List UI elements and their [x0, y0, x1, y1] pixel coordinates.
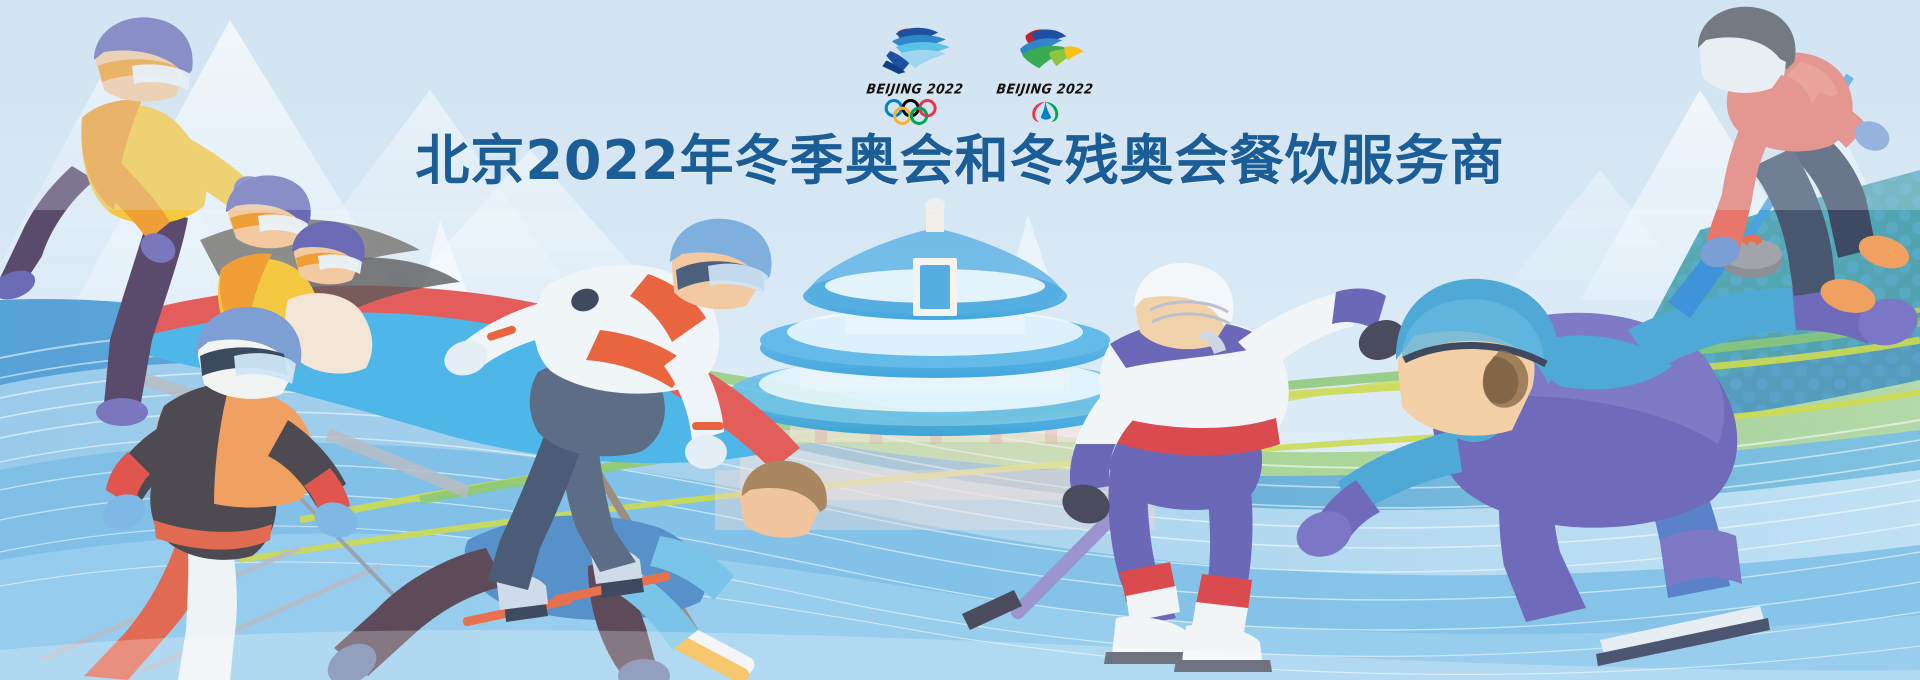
curling-stone: [1722, 235, 1782, 279]
cross-country-skier-illustration: [40, 307, 410, 680]
olympic-wordmark: BEIJING 2022: [860, 80, 970, 96]
hockey-skates: [1104, 617, 1272, 672]
paralympic-wordmark: BEIJING 2022: [990, 80, 1100, 96]
winter-dream-emblem-icon: [867, 24, 963, 74]
temple-of-heaven-illustration: [715, 198, 1155, 530]
emblem-group: BEIJING 2022 BEIJING 20: [860, 24, 1100, 124]
ice-hockey-player-illustration: [962, 263, 1412, 672]
page-title: 北京2022年冬季奥会和冬残奥会餐饮服务商: [0, 116, 1920, 195]
lime-ribbons: [240, 310, 1920, 560]
speed-skater-center-illustration: [440, 219, 772, 627]
bobsleigh-pusher: [0, 17, 276, 426]
halftone-panel: [1460, 170, 1920, 680]
beijing-2022-banner: BEIJING 2022 BEIJING 20: [0, 0, 1920, 680]
landmark-label: temple-of-heaven: [0, 0, 1, 1]
olympic-emblem: BEIJING 2022: [861, 24, 969, 130]
speed-skater-right-illustration: [1290, 279, 1920, 666]
bobsleigh-rider-3: [285, 221, 372, 373]
paralympic-emblem: BEIJING 2022: [991, 24, 1099, 130]
bobsleigh-team-illustration: [0, 17, 800, 498]
curler-sweeping-illustration: [320, 424, 826, 680]
contour-lines: [0, 332, 1920, 675]
green-ribbon: [420, 322, 1920, 500]
leap-emblem-icon: [997, 24, 1093, 74]
bobsleigh-rider-2: [218, 175, 320, 351]
wave-bands: [0, 299, 1920, 680]
